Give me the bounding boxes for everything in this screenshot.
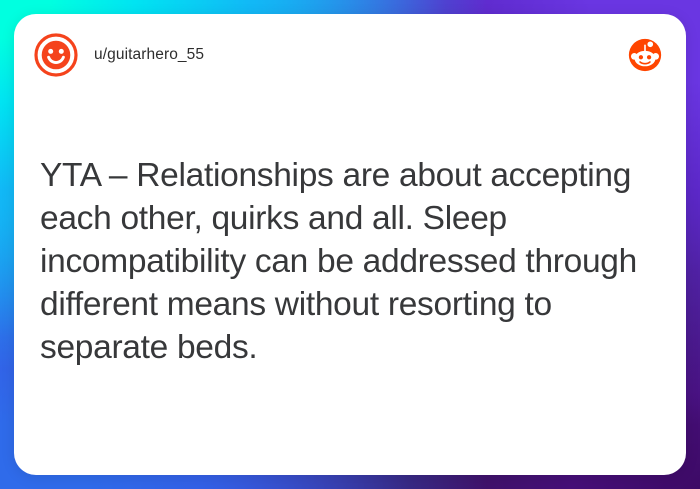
username-label[interactable]: u/guitarhero_55 bbox=[94, 46, 204, 64]
reddit-snoo-logo-icon[interactable] bbox=[628, 38, 662, 72]
card-header: u/guitarhero_55 bbox=[14, 14, 686, 96]
post-body-text: YTA – Relationships are about accepting … bbox=[40, 154, 658, 369]
smiley-face-avatar-icon[interactable] bbox=[34, 33, 78, 77]
reddit-comment-card: u/guitarhero_55 YTA – Relationships are … bbox=[14, 14, 686, 475]
